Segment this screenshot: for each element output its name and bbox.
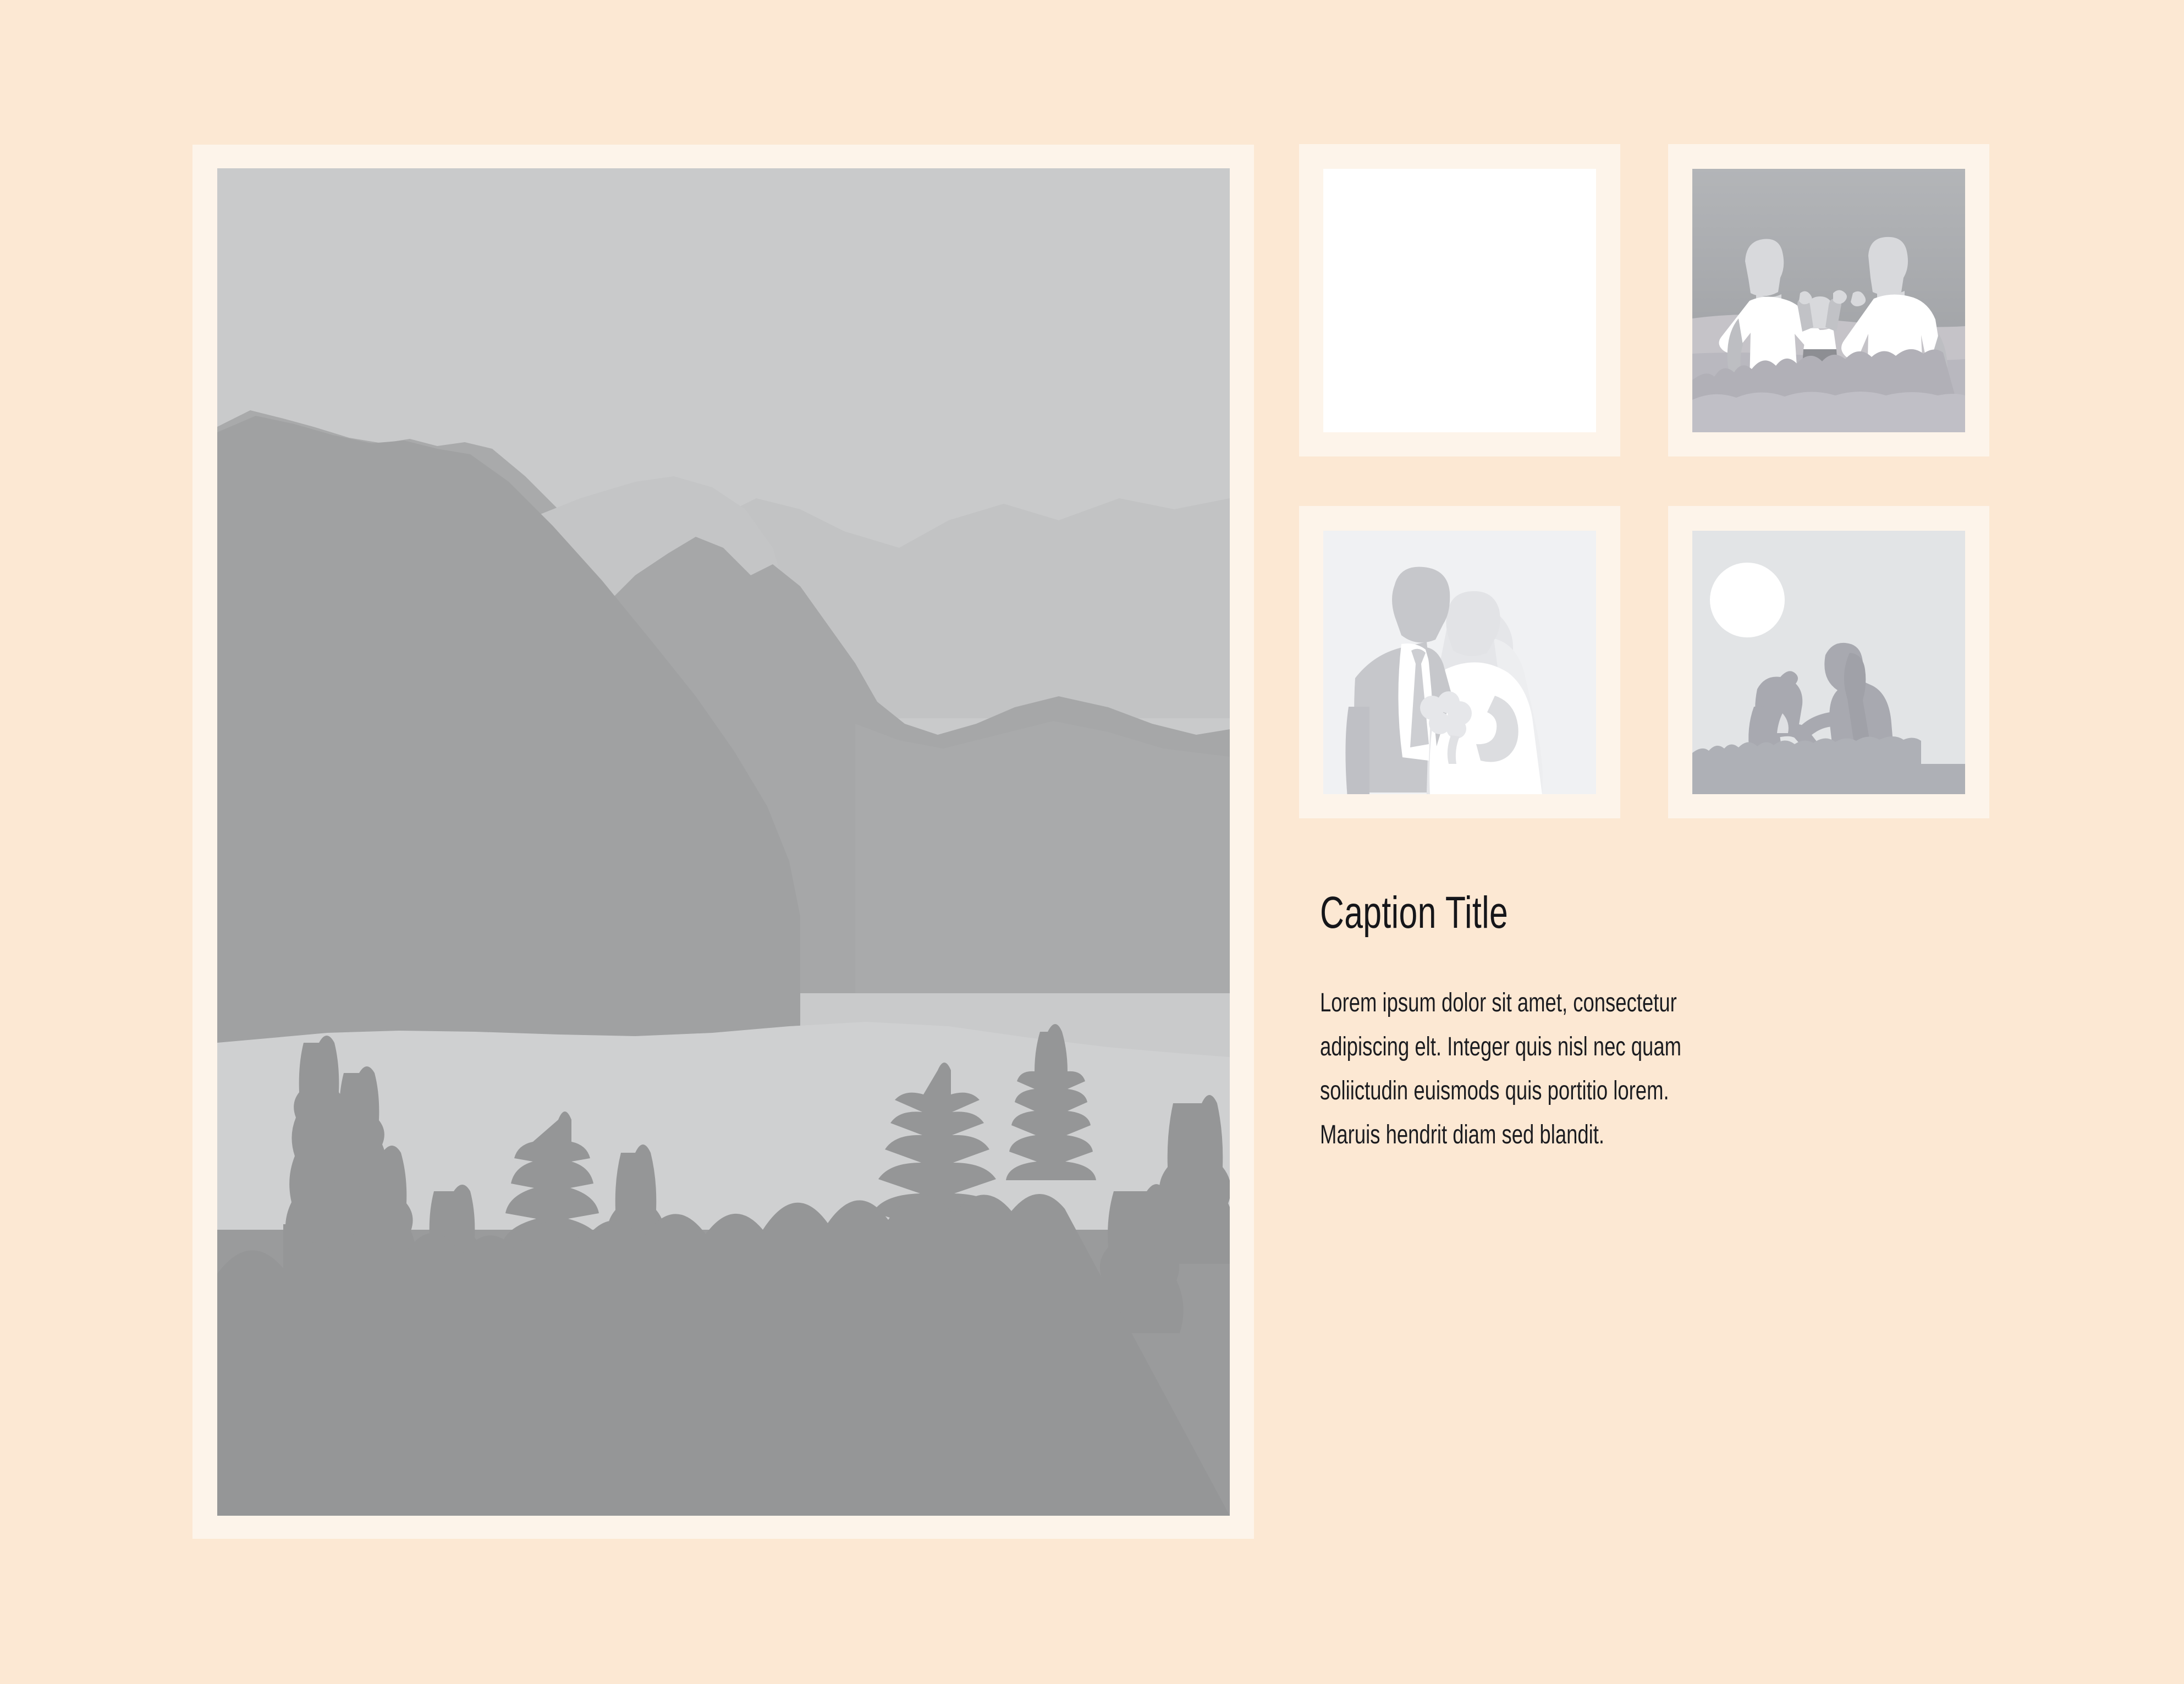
caption-body-line: soliictudin euismods quis portitio lorem… — [1320, 1069, 1930, 1113]
thumbnail-wedding-frame[interactable]: Bride and groom couple with bouquet — [1299, 506, 1620, 818]
mountain-landscape-illustration — [217, 168, 1230, 1516]
thumbnail-wedding-alt: Bride and groom couple with bouquet — [1299, 506, 1300, 507]
thumbnail-sunset-frame[interactable]: Woman sitting on the grass with a dog un… — [1668, 506, 1989, 818]
thumbnail-blank-frame[interactable]: Blank white photo placeholder — [1299, 144, 1620, 456]
sun-icon — [1710, 563, 1785, 637]
thumbnail-sunset[interactable] — [1692, 531, 1965, 794]
hero-photo-frame[interactable] — [192, 145, 1254, 1539]
caption-body-line: Lorem ipsum dolor sit amet, consectetur — [1320, 981, 1930, 1025]
thumbnail-family-alt: Family of three holding hands walking th… — [1668, 144, 1669, 145]
caption-body-line: adipiscing elt. Integer quis nisl nec qu… — [1320, 1025, 1930, 1069]
thumbnail-wedding[interactable] — [1323, 531, 1596, 794]
collage-canvas: Blank white photo placeholder — [0, 0, 2184, 1684]
thumbnail-blank[interactable] — [1323, 169, 1596, 432]
wedding-couple-illustration — [1323, 531, 1596, 794]
caption-body-line: Maruis hendrit diam sed blandit. — [1320, 1113, 1930, 1157]
thumbnail-family[interactable] — [1692, 169, 1965, 432]
caption-title: Caption Title — [1320, 887, 1772, 939]
family-photo-illustration — [1692, 169, 1965, 432]
mountain-landscape-photo[interactable] — [217, 168, 1230, 1516]
caption-body: Lorem ipsum dolor sit amet, consectetur … — [1320, 981, 1930, 1157]
thumbnail-family-frame[interactable]: Family of three holding hands walking th… — [1668, 144, 1989, 456]
thumbnail-sunset-alt: Woman sitting on the grass with a dog un… — [1668, 506, 1669, 507]
thumbnail-blank-alt: Blank white photo placeholder — [1299, 144, 1300, 145]
caption-block: Caption Title Lorem ipsum dolor sit amet… — [1320, 887, 1930, 1157]
sunset-dog-illustration — [1692, 531, 1965, 794]
